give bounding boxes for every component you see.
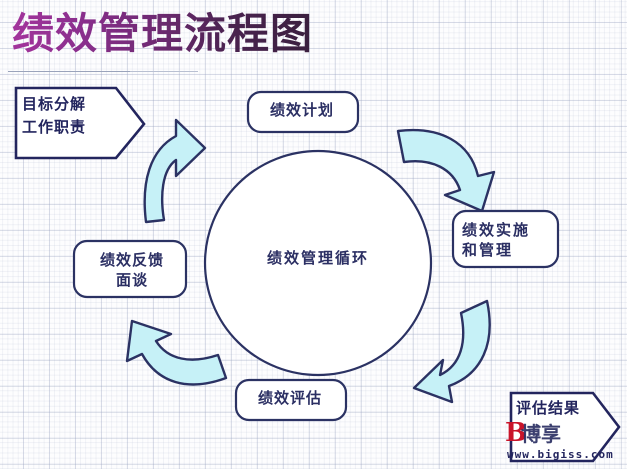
cycle-center-label: 绩效管理循环 [234, 248, 402, 268]
arrow-top-left-icon [145, 120, 205, 222]
watermark-brand-cn: 博享 [521, 422, 561, 446]
node-label-plan: 绩效计划 [250, 100, 354, 120]
arrow-bottom-left-icon [127, 321, 226, 384]
node-label-evaluate: 绩效评估 [238, 388, 342, 408]
watermark-url: www.bigiss.com [507, 448, 614, 461]
banner-label-input: 目标分解 工作职责 [22, 93, 118, 139]
arrow-top-right-icon [398, 130, 494, 211]
diagram-canvas: 绩效管理流程图 绩效计划 绩效实施 和管理 绩效评估 绩效反馈 面谈 绩效管理循… [0, 0, 627, 469]
banner-label-output: 评估结果 [516, 398, 608, 418]
arrow-bottom-right-icon [414, 301, 490, 402]
node-label-feedback: 绩效反馈 面谈 [80, 250, 184, 290]
node-label-execute: 绩效实施 和管理 [462, 220, 554, 260]
watermark: B 博享 www.bigiss.com [505, 420, 623, 466]
